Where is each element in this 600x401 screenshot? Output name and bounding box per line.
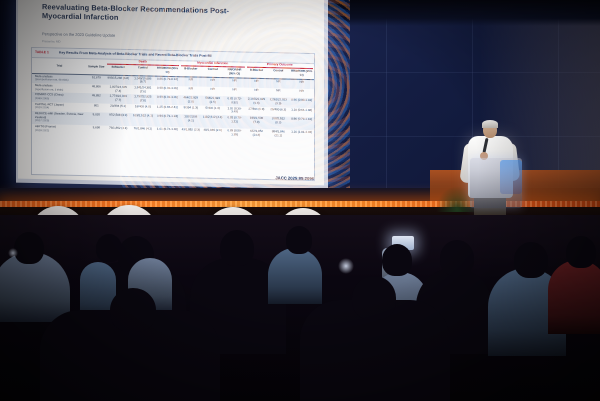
cell-death_bb: 76/1,852 (4.1) xyxy=(106,126,131,136)
cell-po_ctl: NR xyxy=(267,88,289,98)
cell-mi_eff: 0.82 (0.72-0.92) xyxy=(224,96,246,106)
cell-po_bb: 199/2,508 (7.9) xyxy=(246,116,268,129)
audience-member-head xyxy=(110,288,156,332)
cell-mi_bb: 5/394 (1.3) xyxy=(180,105,202,115)
cell-mi_ctl: 111/2,512 (4.4) xyxy=(202,115,224,128)
column-header-1: Sample Size xyxy=(87,64,106,74)
cell-mi_eff: NR xyxy=(224,87,246,97)
audience-member-head xyxy=(566,236,596,268)
cell-po_bb: 2,166/22,929 (9.4) xyxy=(246,97,268,107)
cell-n: 48,806 xyxy=(87,84,106,94)
cell-trial: ABYSS (France)(2018-2022) xyxy=(32,124,87,135)
cell-death_ctl: 1,049/15,686 (6.7) xyxy=(131,75,156,85)
cell-po_ctl: 384/1,846 (21.1) xyxy=(267,129,289,139)
light-bokeh xyxy=(338,258,354,274)
cell-death_ctl: 103/2,512 (4.1) xyxy=(131,113,156,127)
speaker-hair xyxy=(482,120,498,128)
cell-mi_bb: NR xyxy=(180,86,202,96)
column-header-5: B-Blocker xyxy=(180,66,202,76)
results-table-body: Meta-analysis(prereperfusion era, 48 tri… xyxy=(32,73,314,139)
column-header-3: Control xyxy=(131,65,156,75)
cell-death_ctl: 76/1,846 (4.1) xyxy=(131,126,156,136)
cell-death_eff: 0.98 (0.92-1.05) xyxy=(155,86,180,96)
light-bokeh xyxy=(8,248,18,258)
cell-death_eff: 1.01 (0.74-1.38) xyxy=(155,127,180,137)
results-table: Death Myocardial Infarction Primary Outc… xyxy=(32,57,314,140)
audience-member xyxy=(268,248,322,304)
slide-citation: JACC 2025;85:2096 xyxy=(275,175,314,181)
cell-mi_eff: 0.89 (0.59-1.35) xyxy=(224,128,246,138)
cell-mi_ctl: 48/1,846 (2.6) xyxy=(202,128,224,138)
slide-title: Reevaluating Beta-Blocker Recommendation… xyxy=(42,2,232,25)
slide-byline: Presenter, MD xyxy=(42,39,202,46)
conference-photo: Reevaluating Beta-Blocker Recommendation… xyxy=(0,0,600,401)
cell-death_bb: 97/2,508 (3.9) xyxy=(106,113,131,127)
cell-po_ctl: 25/400 (6.3) xyxy=(267,107,289,117)
cell-n: 801 xyxy=(87,103,106,113)
cell-po_eff: 0.96 (0.90-1.01) xyxy=(289,98,314,108)
cell-po_bb: 27/394 (6.9) xyxy=(246,106,268,116)
cell-po_eff: NR xyxy=(289,89,314,99)
podium-screen-glow xyxy=(500,160,522,194)
cell-mi_ctl: NR xyxy=(202,77,224,87)
cell-death_eff: 0.94 (0.71-1.24) xyxy=(155,114,180,128)
audience-member-head xyxy=(382,244,412,276)
cell-death_ctl: 16/400 (4.0) xyxy=(131,104,156,114)
audience-member xyxy=(548,260,600,334)
audience-member-head xyxy=(440,240,474,276)
column-header-8: B-Blocker xyxy=(246,68,268,78)
cell-po_eff: 1.10 (0.64-1.88) xyxy=(289,107,314,117)
column-header-6: Control xyxy=(202,67,224,77)
cell-po_eff: NR xyxy=(289,79,314,89)
column-header-7: RR/OR/HR (95% CI) xyxy=(224,67,246,77)
cell-mi_ctl: 5/400 (1.3) xyxy=(202,105,224,115)
cell-po_ctl: 208/2,512 (8.3) xyxy=(267,116,289,129)
cell-po_ctl: NR xyxy=(267,78,289,88)
audience-member-head xyxy=(220,230,254,266)
cell-po_eff: 1.16 (1.01-1.33) xyxy=(289,130,314,140)
cell-n: 3,698 xyxy=(87,125,106,135)
cell-n: 51,679 xyxy=(87,74,106,84)
cell-mi_bb: 43/1,852 (2.3) xyxy=(180,127,202,137)
cell-death_ctl: 1,841/24,381 (7.6) xyxy=(131,85,156,95)
cell-death_bb: 1,807/24,425 (7.4) xyxy=(106,85,131,95)
cell-mi_ctl: 568/22,923 (2.5) xyxy=(202,96,224,106)
cell-po_eff: 0.96 (0.79-1.16) xyxy=(289,117,314,131)
cell-mi_eff: 1.02 (0.30-3.49) xyxy=(224,106,246,116)
cell-po_bb: NR xyxy=(246,78,268,88)
ceiling-shadow xyxy=(300,0,600,26)
audience-member-head xyxy=(352,276,396,320)
column-header-10: RR/OR/HR (95% CI) xyxy=(289,69,314,79)
table-tag: TABLE 1 xyxy=(35,50,49,54)
cell-trial-sub: (2018-2022) xyxy=(35,129,86,134)
cell-po_bb: NR xyxy=(246,88,268,98)
audience-member-head xyxy=(286,226,312,254)
cell-mi_bb: 102/2,508 (4.1) xyxy=(180,114,202,127)
cell-mi_bb: 464/22,929 (2.0) xyxy=(180,96,202,106)
cell-death_ctl: 1,797/22,923 (7.8) xyxy=(131,94,156,104)
column-header-2: B-Blocker xyxy=(106,65,131,75)
cell-death_bb: 993/15,288 (6.8) xyxy=(106,75,131,85)
cell-mi_eff: 0.92 (0.70-1.21) xyxy=(224,115,246,128)
column-header-9: Control xyxy=(267,68,289,78)
cell-mi_ctl: NR xyxy=(202,87,224,97)
column-header-4: RR/OR/HR (95% CI) xyxy=(155,66,180,76)
cell-mi_eff: NR xyxy=(224,77,246,87)
cell-po_ctl: 2,261/22,923 (9.9) xyxy=(267,97,289,107)
cell-n: 45,852 xyxy=(87,93,106,103)
cell-trial: REDUCE-AMI (Sweden, Estonia, New Zealand… xyxy=(32,111,87,125)
audience-member-head xyxy=(514,242,548,278)
projected-slide: Reevaluating Beta-Blocker Recommendation… xyxy=(18,0,324,185)
cell-death_eff: 0.86 (0.79-0.94) xyxy=(155,76,180,86)
cell-death_bb: 1,774/22,929 (7.7) xyxy=(106,94,131,104)
cell-n: 5,020 xyxy=(87,112,106,125)
cell-mi_bb: NR xyxy=(180,76,202,86)
audience-member-head xyxy=(14,232,44,264)
cell-death_bb: 20/394 (5.1) xyxy=(106,103,131,113)
audience-member-head xyxy=(96,234,122,262)
cell-death_eff: 1.25 (0.65-2.41) xyxy=(155,104,180,114)
cell-death_eff: 0.99 (0.92-1.05) xyxy=(155,95,180,105)
results-table-container: TABLE 1 Key Results From Meta-Analysis o… xyxy=(31,47,315,181)
cell-po_bb: 432/1,852 (23.8) xyxy=(246,129,268,139)
